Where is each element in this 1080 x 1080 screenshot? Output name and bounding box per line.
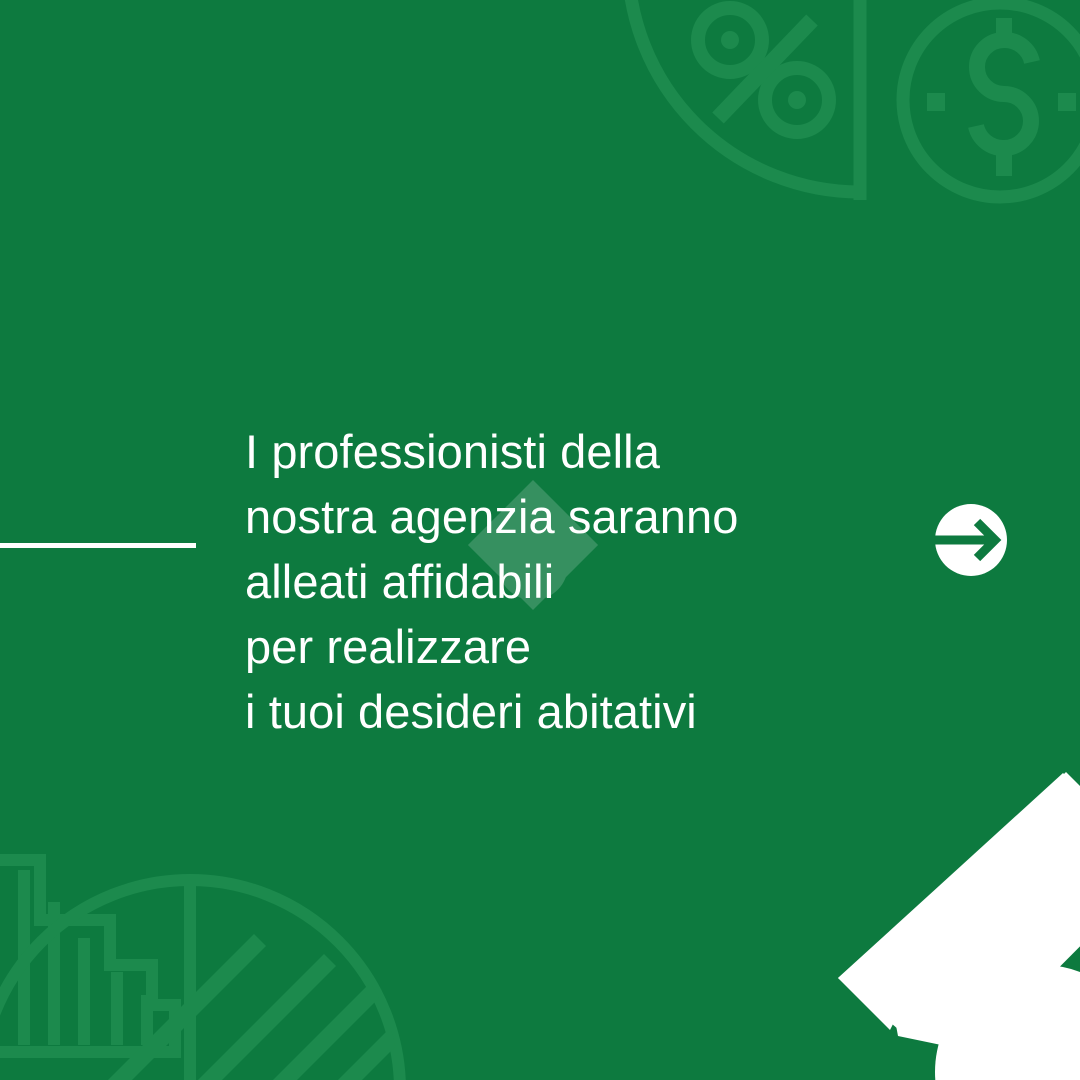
headline-line-5: i tuoi desideri abitativi: [245, 679, 885, 744]
next-slide-button[interactable]: [925, 494, 1017, 586]
headline-line-1: I professionisti della: [245, 419, 885, 484]
headline-line-2: nostra agenzia saranno: [245, 484, 885, 549]
house-roof-logo-icon: [838, 772, 1080, 1080]
headline-line-4: per realizzare: [245, 614, 885, 679]
arrow-right-icon[interactable]: [925, 494, 1017, 586]
headline-text: I professionisti della nostra agenzia sa…: [245, 419, 885, 744]
headline-line-3: alleati affidabili: [245, 549, 885, 614]
poster-canvas: I professionisti della nostra agenzia sa…: [0, 0, 1080, 1080]
left-divider-rule: [0, 543, 196, 548]
